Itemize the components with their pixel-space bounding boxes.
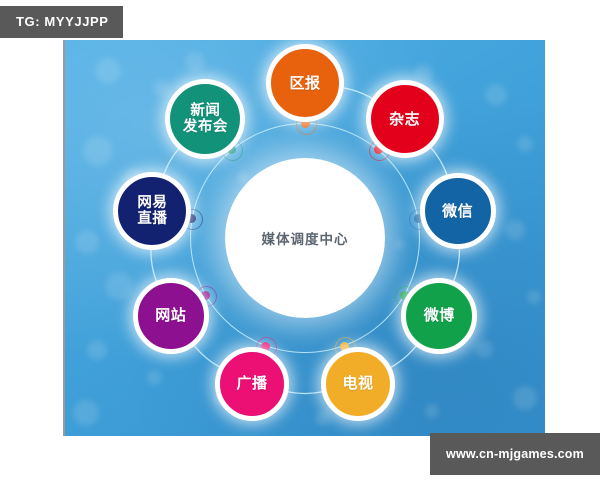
bubble-label-qubao: 区报 (289, 75, 320, 92)
bubble-label-wangyi-zhibo: 网易直播 (137, 195, 167, 227)
bubble-label-wangzhan: 网站 (155, 307, 186, 324)
bubble-weibo[interactable]: 微博 (401, 278, 477, 354)
bubble-wangyi-zhibo[interactable]: 网易直播 (113, 172, 191, 250)
bubble-label-guangbo: 广播 (236, 375, 267, 392)
tg-badge: TG: MYYJJPP (0, 6, 123, 38)
media-dispatch-infographic: 媒体调度中心 区报杂志微信微博电视广播网站网易直播新闻发布会 (65, 40, 545, 436)
bubble-qubao[interactable]: 区报 (266, 44, 344, 122)
center-hub-label: 媒体调度中心 (262, 228, 349, 248)
bubble-label-weixin: 微信 (442, 203, 473, 220)
bubble-label-dianshi: 电视 (342, 375, 373, 392)
bubble-label-xinwen: 新闻发布会 (183, 103, 228, 135)
site-watermark: www.cn-mjgames.com (430, 433, 600, 475)
bubble-weixin[interactable]: 微信 (420, 173, 496, 249)
center-hub: 媒体调度中心 (225, 158, 385, 318)
bubble-wangzhan[interactable]: 网站 (133, 278, 209, 354)
bubble-guangbo[interactable]: 广播 (215, 347, 289, 421)
bubble-label-zazhi: 杂志 (389, 111, 420, 128)
bubble-zazhi[interactable]: 杂志 (366, 80, 444, 158)
bubble-label-weibo: 微博 (424, 307, 455, 324)
bubble-dianshi[interactable]: 电视 (321, 347, 395, 421)
